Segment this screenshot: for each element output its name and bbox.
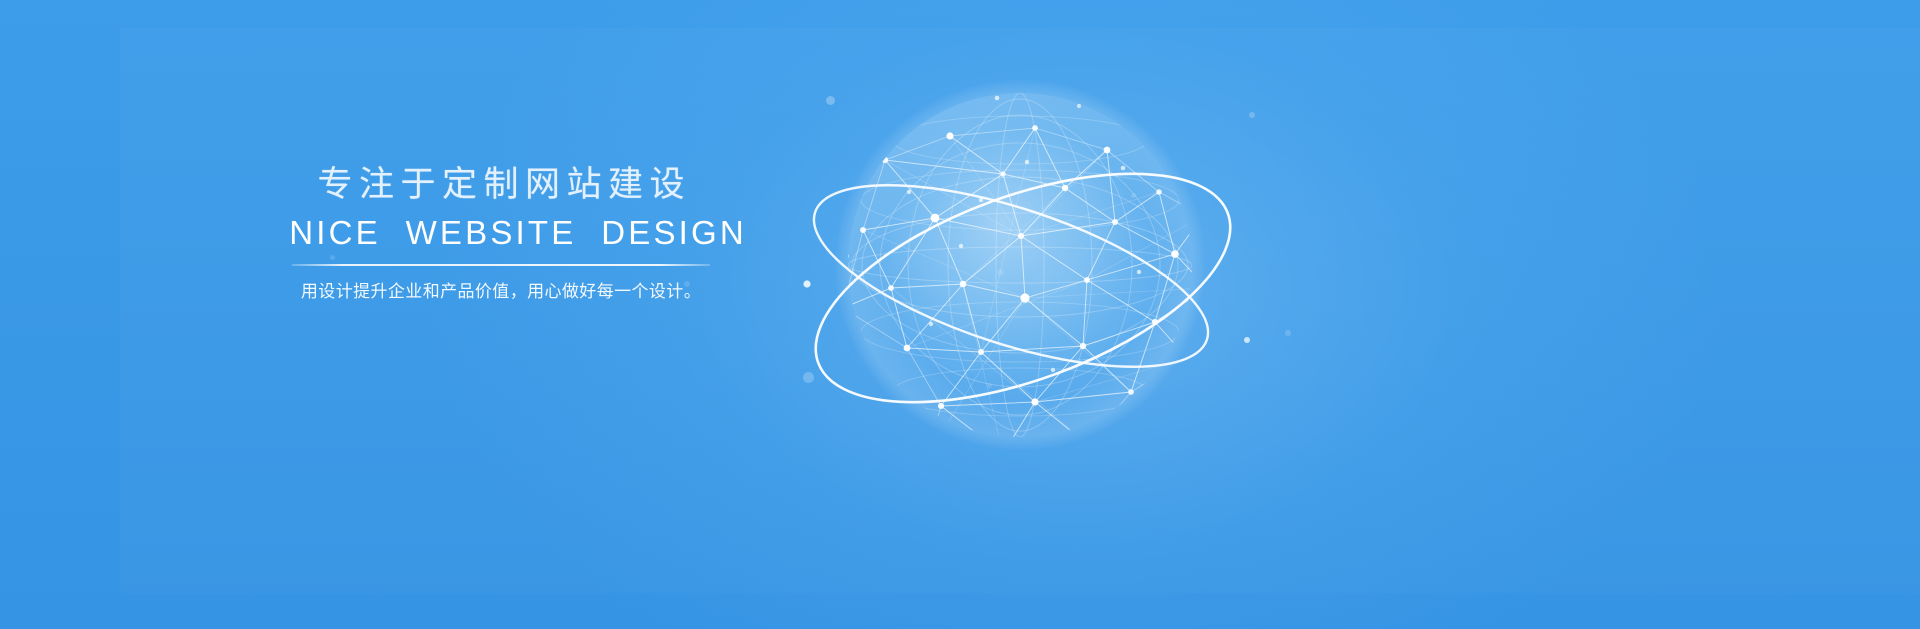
hero-banner: 专注于定制网站建设 NICE WEBSITE DESIGN 用设计提升企业和产品… (0, 0, 1920, 629)
headline-divider (292, 264, 710, 266)
bokeh-particle (1285, 330, 1291, 336)
bokeh-particle (803, 372, 814, 383)
bokeh-particle (997, 269, 1004, 276)
bokeh-particle (826, 96, 835, 105)
inner-frame-overlay (120, 28, 1920, 593)
hero-headline-chinese: 专注于定制网站建设 (286, 163, 716, 207)
bokeh-particle (1249, 112, 1255, 118)
hero-copy-block: 专注于定制网站建设 NICE WEBSITE DESIGN 用设计提升企业和产品… (286, 163, 716, 305)
bokeh-particle (987, 383, 992, 388)
bokeh-particle (1131, 193, 1136, 198)
hero-headline-english: NICE WEBSITE DESIGN (286, 211, 716, 255)
network-globe-illustration (735, 40, 1315, 520)
hero-subcopy: 用设计提升企业和产品价值，用心做好每一个设计。 (286, 279, 716, 305)
